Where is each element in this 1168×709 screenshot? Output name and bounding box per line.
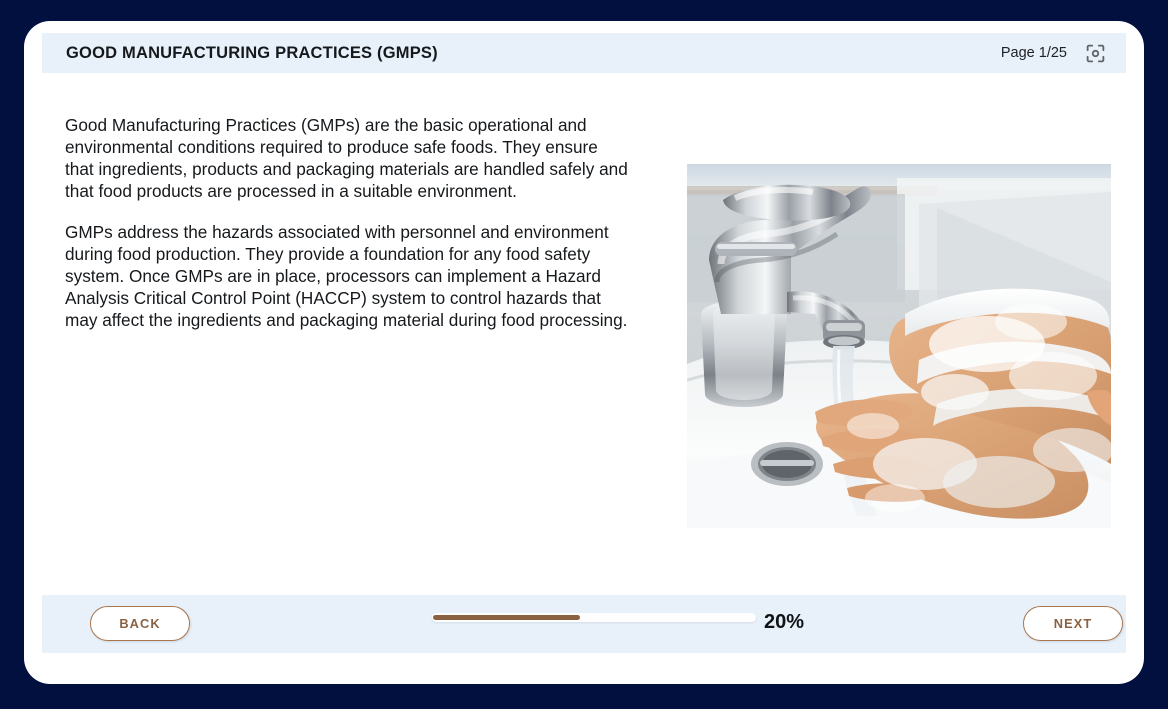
lesson-card: GOOD MANUFACTURING PRACTICES (GMPS) Page… <box>24 21 1144 684</box>
page-indicator: Page 1/25 <box>1001 45 1067 61</box>
paragraph-2: GMPs address the hazards associated with… <box>65 221 631 331</box>
progress-bar[interactable] <box>432 613 756 622</box>
progress-label: 20% <box>764 611 804 634</box>
progress-fill <box>433 615 580 620</box>
focus-scan-icon[interactable] <box>1085 43 1106 64</box>
page-title: GOOD MANUFACTURING PRACTICES (GMPS) <box>66 44 438 63</box>
lesson-text-column: Good Manufacturing Practices (GMPs) are … <box>65 114 631 331</box>
paragraph-1: Good Manufacturing Practices (GMPs) are … <box>65 114 631 202</box>
header-right-group: Page 1/25 <box>1001 43 1126 64</box>
back-button[interactable]: BACK <box>90 606 190 641</box>
lesson-header: GOOD MANUFACTURING PRACTICES (GMPS) Page… <box>42 33 1126 73</box>
lesson-footer: BACK 20% NEXT <box>42 595 1126 653</box>
handwashing-photo <box>687 164 1111 528</box>
lesson-body: Good Manufacturing Practices (GMPs) are … <box>24 73 1144 595</box>
next-button[interactable]: NEXT <box>1023 606 1123 641</box>
